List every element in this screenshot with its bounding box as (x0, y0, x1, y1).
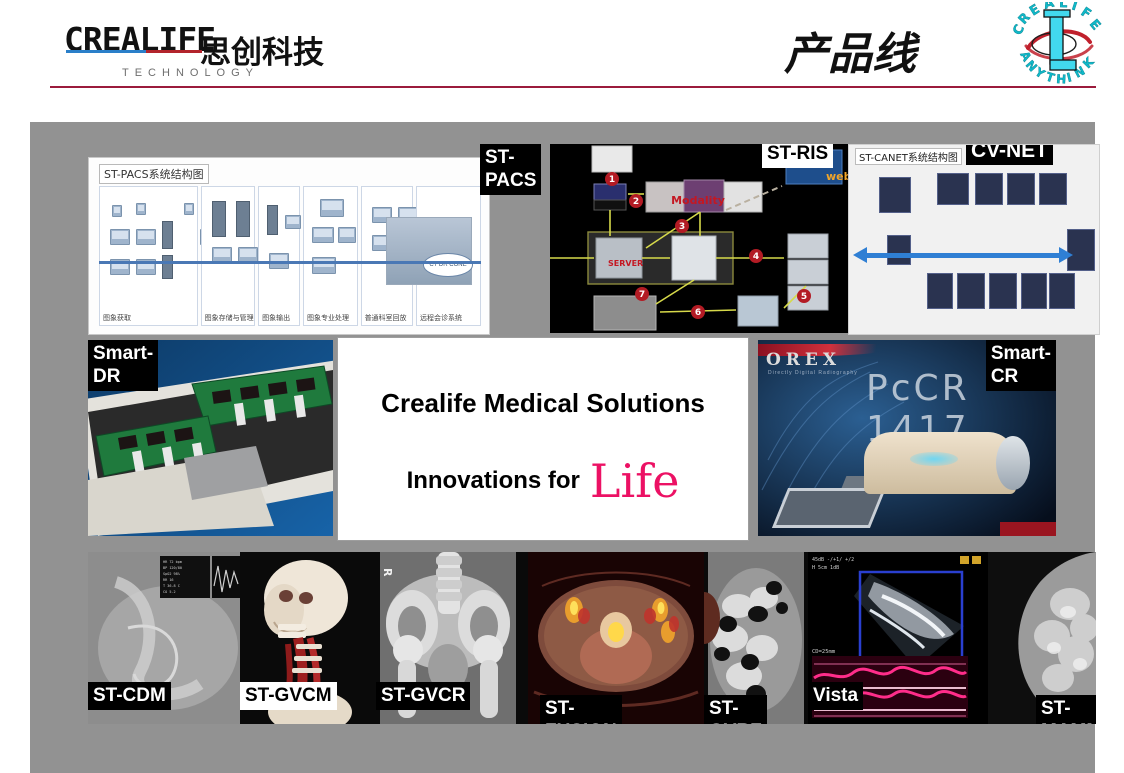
corporate-seal-icon: C R E A L I F E A N Y T H I N (1004, 2, 1108, 86)
header-divider (50, 86, 1096, 88)
pacs-col-label: 普通科室回放 (365, 313, 407, 323)
svg-text:F: F (1078, 5, 1094, 22)
orex-brand: OREX (766, 350, 841, 370)
cvnet-node-thumb (1039, 173, 1067, 205)
cvnet-node-thumb (879, 177, 911, 213)
svg-text:Modality: Modality (671, 194, 725, 207)
slogan-line-2-prefix: Innovations for (407, 467, 580, 494)
svg-text:SERVER: SERVER (608, 259, 643, 268)
pacs-col-label: 远程会诊系统 (420, 313, 462, 323)
cvnet-node-thumb (927, 273, 953, 309)
orex-brand-subtitle: Directly Digital Radiography (768, 370, 858, 376)
logo-red-stripe (146, 50, 202, 53)
st-ris-diagram[interactable]: 1 2 3 4 5 6 7 Modality SERVER web ST-RIS (550, 144, 850, 333)
svg-text:RR 16: RR 16 (163, 578, 174, 582)
modality-tile-st-cdm[interactable]: HR 72 bpmBP 120/80 SpO2 98%RR 16 T 36.8 … (88, 552, 240, 724)
cr-side-knob (996, 436, 1030, 490)
slogan-panel: Crealife Medical Solutions Innovations f… (337, 337, 749, 541)
cvnet-node-thumb (1049, 273, 1075, 309)
svg-text:SpO2 98%: SpO2 98% (163, 572, 181, 576)
logo-blue-stripe (66, 50, 146, 53)
pacs-col-label: 图象存储与管理 (205, 313, 254, 323)
svg-text:CO 5.2: CO 5.2 (163, 590, 176, 594)
pacs-col-output: 图象输出 (258, 186, 300, 326)
caption-st-ris: ST-RIS (762, 144, 833, 168)
cvnet-node-thumb (975, 173, 1003, 205)
caption-st-cdm: ST-CDM (88, 682, 171, 710)
slogan-line-2: Innovations forLife (338, 454, 748, 508)
caption-smart-cr: Smart- CR (986, 340, 1056, 391)
caption-vista: Vista (808, 682, 863, 710)
slogan-accent-word: Life (590, 454, 680, 508)
svg-text:H: H (1056, 72, 1067, 86)
svg-text:6: 6 (695, 308, 701, 318)
cvnet-viewer-node (887, 235, 911, 265)
cv-net-diagram[interactable]: ST-CANET系统结构图 CV-NET (848, 144, 1100, 335)
logo-wordmark: CREALIFE (64, 20, 215, 60)
svg-text:I: I (1065, 70, 1073, 85)
logo-chinese-name: 思创科技 (200, 36, 324, 70)
svg-text:CD=25mm: CD=25mm (812, 649, 836, 655)
svg-text:T 36.8 C: T 36.8 C (163, 584, 180, 588)
modality-tile-st-gvcm[interactable]: ST-GVCM (240, 552, 368, 724)
svg-text:I: I (1070, 2, 1079, 14)
pacs-col-label: 图象专业处理 (307, 313, 349, 323)
pacs-backbone-bus (99, 261, 481, 264)
slogan-line-1: Crealife Medical Solutions (338, 388, 748, 419)
caption-st-gvcr: ST-GVCR (376, 682, 470, 710)
smart-cr-photo[interactable]: OREX Directly Digital Radiography PcCR 1… (758, 340, 1056, 536)
caption-st-mammo: ST- MAMMO (1036, 695, 1096, 724)
smart-dr-photo[interactable]: Smart- DR (88, 340, 333, 536)
svg-text:BP 120/80: BP 120/80 (163, 566, 182, 570)
caption-smart-dr: Smart- DR (88, 340, 158, 391)
svg-text:2: 2 (633, 197, 639, 207)
svg-text:5: 5 (801, 292, 807, 302)
caption-st-gvcm: ST-GVCM (240, 682, 337, 710)
modality-tile-vista[interactable]: 45dB -/+1/ +/2 H 5cm 1dB CD=25mm (808, 552, 988, 724)
pacs-cloud-label: CT DR CONE (423, 253, 473, 277)
cr-indicator-glow (910, 452, 958, 466)
caption-st-pacs: ST- PACS (480, 144, 541, 195)
pacs-col-pro-processing: 图象专业处理 (303, 186, 358, 326)
cr-cassette-plate (772, 488, 886, 528)
svg-text:4: 4 (753, 252, 759, 262)
cvnet-node-thumb (937, 173, 969, 205)
cvnet-node-thumb (989, 273, 1017, 309)
caption-cv-net: CV-NET (966, 144, 1053, 165)
st-pacs-diagram[interactable]: ST-PACS系统结构图 图象获取 (88, 157, 490, 335)
cvnet-node-thumb (957, 273, 985, 309)
pacs-col-acquisition: 图象获取 (99, 186, 198, 326)
svg-text:1: 1 (609, 175, 615, 185)
pacs-col-label: 图象获取 (103, 313, 131, 323)
svg-text:H 5cm 1dB: H 5cm 1dB (812, 565, 839, 571)
svg-text:R: R (381, 568, 394, 577)
svg-text:web: web (826, 170, 850, 183)
svg-text:HR 72 bpm: HR 72 bpm (163, 560, 182, 564)
pacs-col-teleconsult: CT DR CONE 远程会诊系统 (416, 186, 481, 326)
caption-st-fusion: ST- FUSION (540, 695, 622, 724)
modality-tile-st-mammo[interactable]: ST- MAMMO (988, 552, 1096, 724)
modality-tile-st-gvrf[interactable]: ST- GVRF (704, 552, 808, 724)
slide-header: CREALIFE 思创科技 TECHNOLOGY 产品线 C R E A L I… (0, 0, 1124, 122)
svg-text:E: E (1086, 17, 1103, 33)
cvnet-diagram-title: ST-CANET系统结构图 (855, 148, 962, 165)
content-panel: ST-PACS系统结构图 图象获取 (30, 122, 1095, 773)
pacs-col-storage: 图象存储与管理 (201, 186, 256, 326)
page-title: 产品线 (700, 18, 1000, 82)
caption-st-gvrf: ST- GVRF (704, 695, 767, 724)
modality-tile-st-gvcr[interactable]: R ST-GVCR (368, 552, 528, 724)
cvnet-node-thumb (1021, 273, 1047, 309)
modality-image-strip: HR 72 bpmBP 120/80 SpO2 98%RR 16 T 36.8 … (88, 552, 1096, 724)
slide-root: CREALIFE 思创科技 TECHNOLOGY 产品线 C R E A L I… (0, 0, 1124, 773)
svg-text:3: 3 (679, 222, 685, 232)
svg-text:45dB -/+1/ +/2: 45dB -/+1/ +/2 (812, 557, 854, 563)
logo-tagline: TECHNOLOGY (122, 67, 259, 79)
modality-tile-st-fusion[interactable]: ST- FUSION (528, 552, 704, 724)
pacs-col-label: 图象输出 (262, 313, 290, 323)
cvnet-backbone-bus (867, 253, 1059, 258)
pacs-diagram-title: ST-PACS系统结构图 (99, 164, 209, 184)
ris-diagram-graphic: 1 2 3 4 5 6 7 Modality SERVER web (550, 144, 850, 333)
pacs-columns: 图象获取 图象存储与管理 图象输出 (99, 186, 481, 326)
company-logo: CREALIFE 思创科技 TECHNOLOGY (64, 20, 324, 82)
svg-text:7: 7 (639, 290, 645, 300)
cvnet-node-thumb (1007, 173, 1035, 205)
